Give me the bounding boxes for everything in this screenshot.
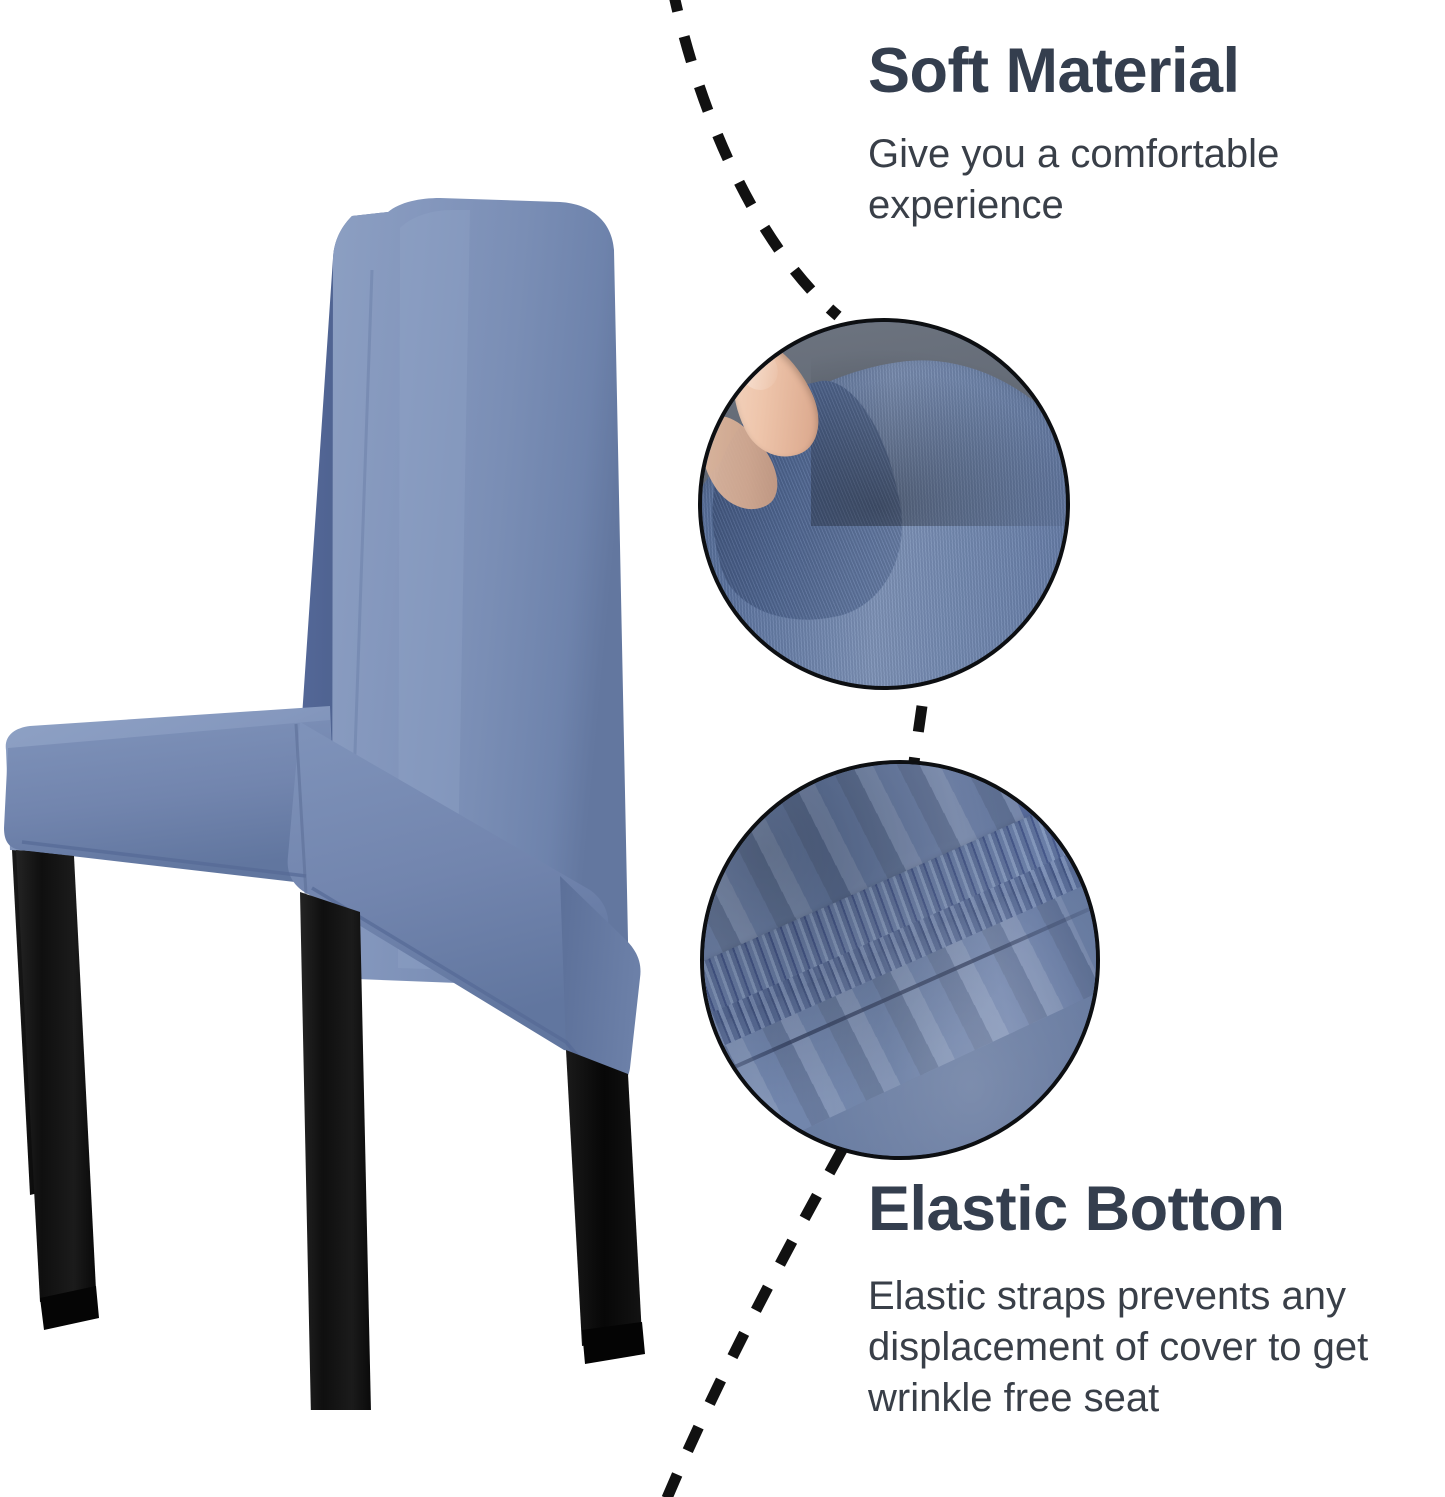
chair-leg-rear-right [566,1050,642,1346]
dining-chair-icon [0,150,700,1410]
chair-leg-front-left [16,850,96,1302]
elastic-botton-text-block: Elastic Botton Elastic straps prevents a… [868,1178,1428,1425]
soft-material-description: Give you a comfortable experience [868,129,1408,231]
mid-dashed-connector [914,706,922,762]
soft-material-text-block: Soft Material Give you a comfortable exp… [868,40,1408,231]
elastic-hem-icon [704,764,1096,1156]
elastic-botton-title: Elastic Botton [868,1178,1428,1241]
elastic-botton-description: Elastic straps prevents any displacement… [868,1271,1428,1425]
dining-chair-illustration [0,150,700,1410]
elastic-hem-photo[interactable] [700,760,1100,1160]
infographic-canvas: Soft Material Give you a comfortable exp… [0,0,1445,1497]
fabric-pinch-icon [702,322,1066,686]
hem-lighting-sheen [704,764,1096,1156]
fabric-drop-shadow [811,337,1066,526]
fabric-pinch-photo[interactable] [698,318,1070,690]
chair-leg-front-right [300,892,372,1410]
soft-material-title: Soft Material [868,40,1408,103]
